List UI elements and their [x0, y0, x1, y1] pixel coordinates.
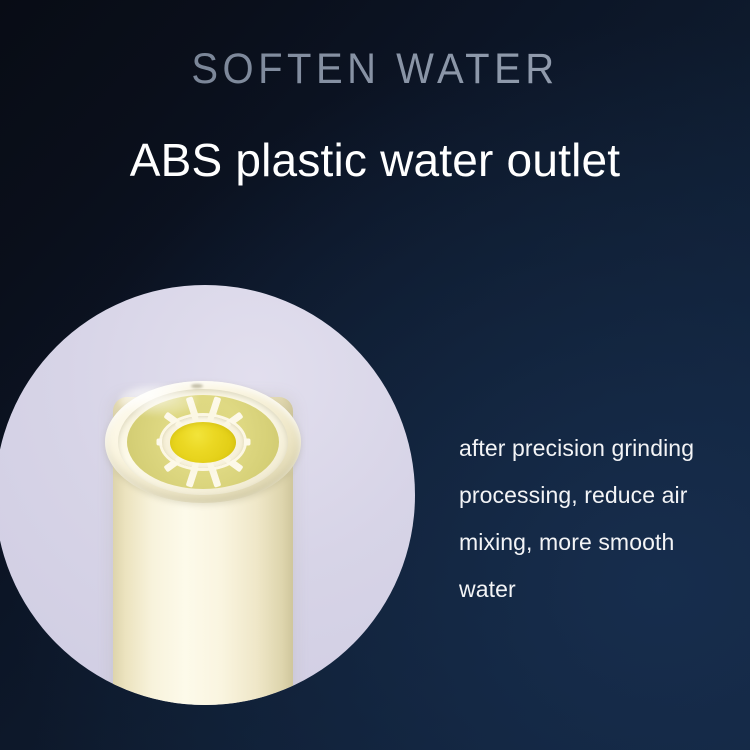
product-feature-banner: SOFTEN WATER ABS plastic water outlet af… — [0, 0, 750, 750]
collar-nick — [191, 384, 203, 388]
product-photo-circle — [0, 285, 415, 705]
wheel-center-hub — [170, 422, 236, 463]
collar-highlight — [119, 385, 197, 415]
feature-description-line: after precision grinding — [459, 425, 741, 472]
feature-description: after precision grindingprocessing, redu… — [459, 425, 741, 613]
page-title: ABS plastic water outlet — [0, 135, 750, 187]
feature-description-line: mixing, more smooth — [459, 519, 741, 566]
eyebrow-heading: SOFTEN WATER — [0, 48, 750, 90]
feature-description-line: water — [459, 566, 741, 613]
feature-description-line: processing, reduce air — [459, 472, 741, 519]
